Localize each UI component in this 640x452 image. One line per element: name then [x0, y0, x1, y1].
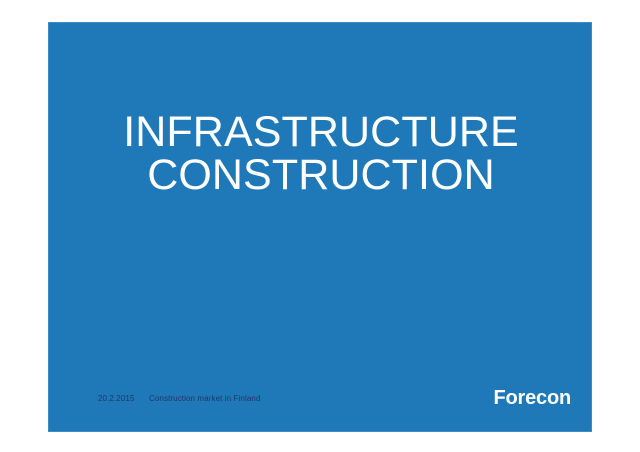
- slide-canvas: INFRASTRUCTURE CONSTRUCTION 20.2.2015 Co…: [0, 0, 640, 452]
- slide-footer: 20.2.2015 Construction market in Finland…: [49, 385, 592, 431]
- slide-title-line-1: INFRASTRUCTURE: [49, 111, 592, 154]
- slide-title: INFRASTRUCTURE CONSTRUCTION: [49, 111, 592, 197]
- slide-title-line-2: CONSTRUCTION: [49, 154, 592, 197]
- footer-subject: Construction market in Finland: [149, 394, 261, 403]
- footer-date: 20.2.2015: [98, 394, 135, 403]
- presentation-slide: INFRASTRUCTURE CONSTRUCTION 20.2.2015 Co…: [48, 22, 592, 432]
- forecon-logo: Forecon: [494, 388, 572, 408]
